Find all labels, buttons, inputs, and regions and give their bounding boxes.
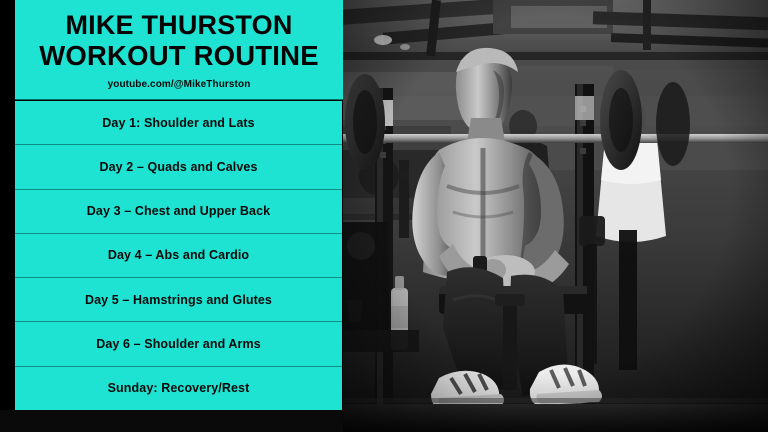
list-item: Day 3 – Chest and Upper Back xyxy=(15,190,342,234)
list-item: Day 1: Shoulder and Lats xyxy=(15,101,342,145)
list-item: Day 5 – Hamstrings and Glutes xyxy=(15,278,342,322)
slide-canvas: MIKE THURSTON WORKOUT ROUTINE youtube.co… xyxy=(0,0,768,432)
list-item: Day 4 – Abs and Cardio xyxy=(15,234,342,278)
day-label: Day 3 – Chest and Upper Back xyxy=(87,204,270,218)
day-label: Day 1: Shoulder and Lats xyxy=(102,116,254,130)
title-card: MIKE THURSTON WORKOUT ROUTINE youtube.co… xyxy=(15,0,343,99)
workout-day-list: Day 1: Shoulder and Lats Day 2 – Quads a… xyxy=(15,101,342,410)
day-label: Sunday: Recovery/Rest xyxy=(108,381,250,395)
youtube-handle: youtube.com/@MikeThurston xyxy=(108,79,251,90)
list-item: Day 2 – Quads and Calves xyxy=(15,145,342,189)
day-label: Day 5 – Hamstrings and Glutes xyxy=(85,293,272,307)
list-item: Day 6 – Shoulder and Arms xyxy=(15,322,342,366)
page-title-line-1: MIKE THURSTON xyxy=(65,11,292,40)
day-label: Day 2 – Quads and Calves xyxy=(99,160,257,174)
gym-photo xyxy=(343,0,768,432)
day-label: Day 4 – Abs and Cardio xyxy=(108,248,249,262)
day-label: Day 6 – Shoulder and Arms xyxy=(96,337,261,351)
bottom-margin-bar xyxy=(0,410,343,432)
page-title-line-2: WORKOUT ROUTINE xyxy=(39,41,319,71)
left-margin-bar xyxy=(0,0,15,432)
list-item: Sunday: Recovery/Rest xyxy=(15,367,342,410)
